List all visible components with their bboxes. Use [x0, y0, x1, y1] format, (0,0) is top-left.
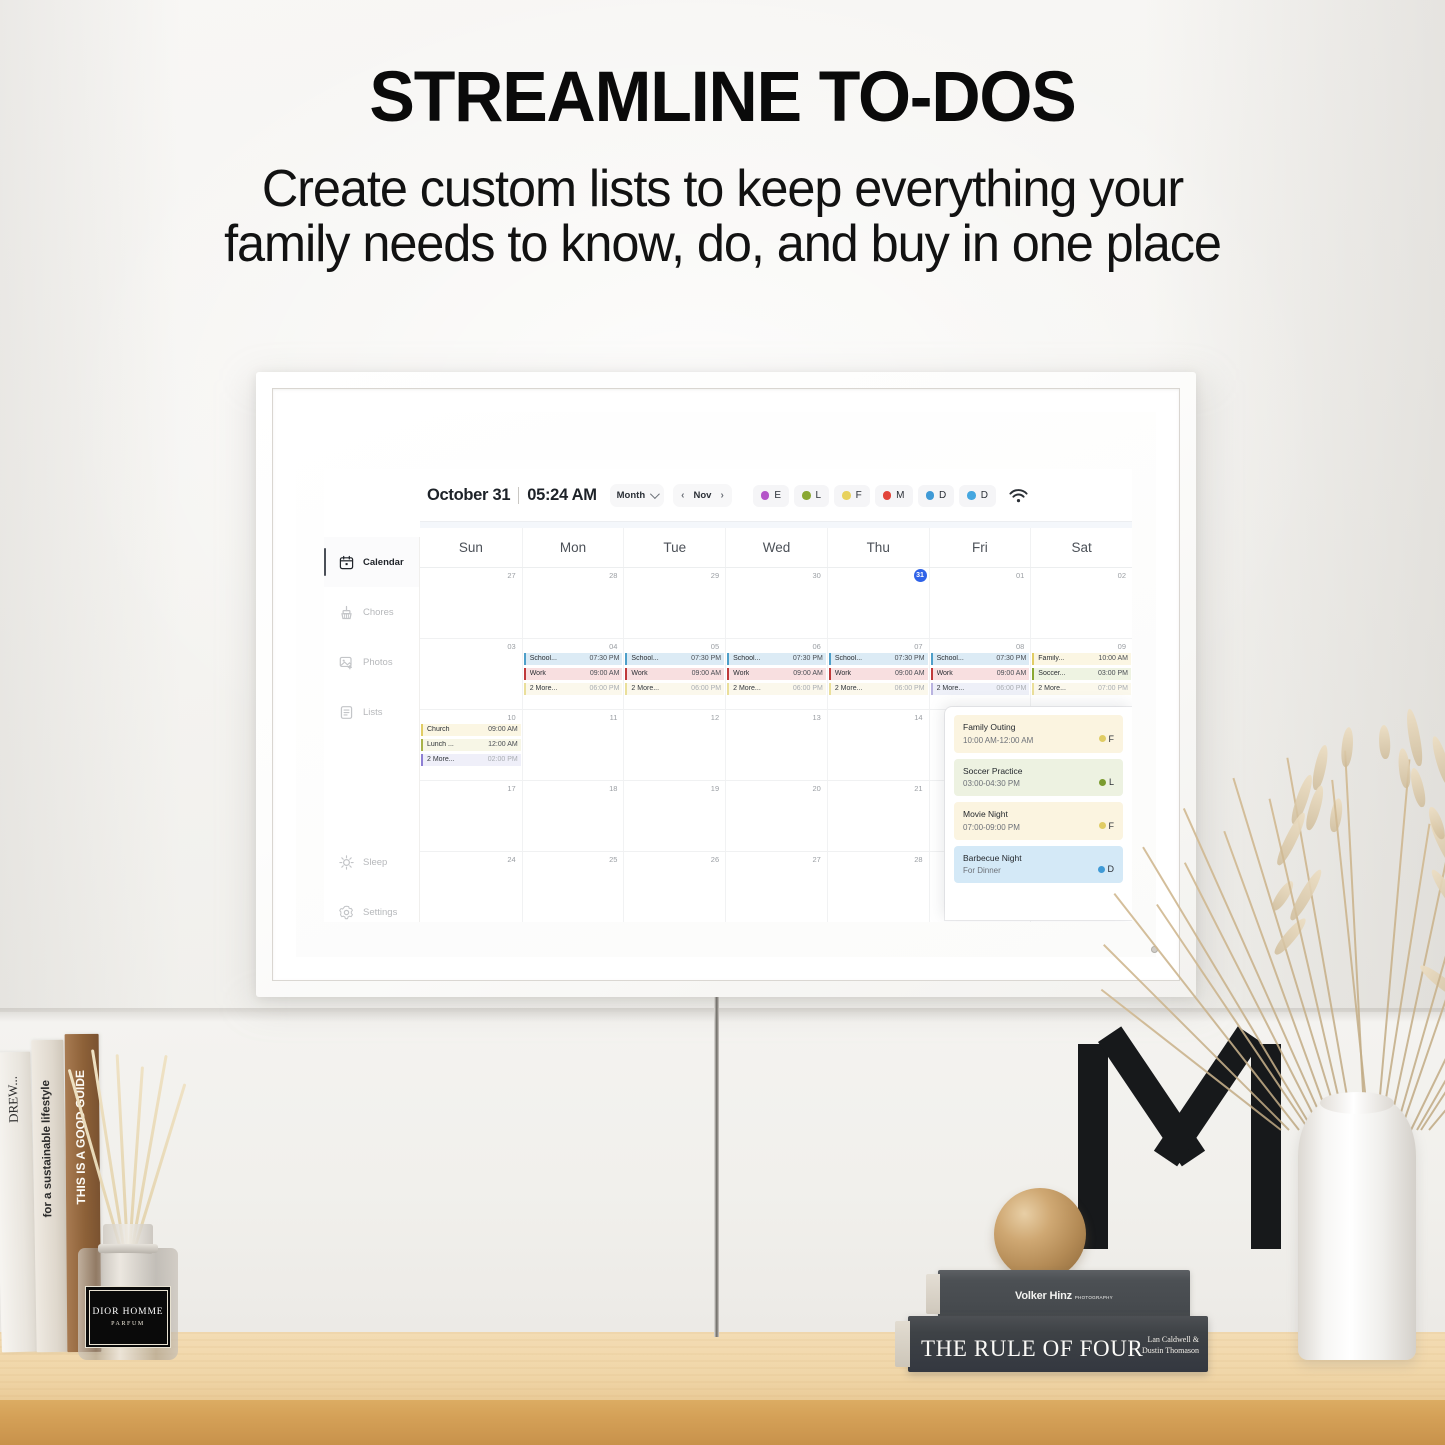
popup-event-text: Movie Night07:00-09:00 PM: [963, 809, 1020, 832]
book-right-top: Volker Hinz PHOTOGRAPHY: [938, 1270, 1190, 1318]
topbar-controls: October 31 05:24 AM Month ‹ Nov › ELFMDD: [420, 469, 1132, 522]
popup-event-title: Barbecue Night: [963, 853, 1022, 863]
event-title: School...: [733, 655, 760, 662]
popup-event-time: 07:00-09:00 PM: [963, 823, 1020, 832]
calendar-event[interactable]: Work09:00 AM: [931, 668, 1030, 680]
popup-event-time: 10:00 AM-12:00 AM: [963, 736, 1033, 745]
legend-label: E: [774, 490, 781, 501]
popup-event-category: F: [1099, 734, 1115, 745]
calendar-week-row: 0304School...07:30 PMWork09:00 AM2 More.…: [420, 639, 1132, 710]
day-number: 21: [914, 784, 922, 793]
legend-chip-e-0[interactable]: E: [753, 485, 789, 507]
event-title: School...: [631, 655, 658, 662]
view-selector-label: Month: [617, 490, 646, 501]
sidebar-item-settings[interactable]: Settings: [324, 887, 419, 922]
legend-chip-d-5[interactable]: D: [959, 485, 996, 507]
more-events-link[interactable]: 2 More...06:00 PM: [524, 683, 623, 695]
popup-event-category: D: [1098, 864, 1115, 875]
popup-event-category: F: [1099, 821, 1115, 832]
diffuser-brand: DIOR HOMME: [92, 1307, 163, 1317]
popup-event-item[interactable]: Family Outing10:00 AM-12:00 AMF: [954, 715, 1123, 753]
event-time: 07:30 PM: [691, 655, 721, 662]
calendar-day-cell[interactable]: 12: [623, 710, 725, 780]
promo-subheadline-line-2: family needs to know, do, and buy in one…: [22, 217, 1424, 272]
calendar-event[interactable]: Lunch ...12:00 AM: [421, 739, 521, 751]
popup-event-text: Barbecue NightFor Dinner: [963, 853, 1022, 876]
day-event-list: Family...10:00 AMSoccer...03:00 PM2 More…: [1032, 653, 1131, 698]
wall-shadow-left: [0, 0, 180, 1030]
calendar-day-cell[interactable]: 28: [827, 852, 929, 922]
calendar-day-cell[interactable]: 30: [725, 568, 827, 638]
day-number: 05: [711, 642, 719, 651]
month-navigator[interactable]: ‹ Nov ›: [673, 484, 732, 507]
day-number: 29: [711, 571, 719, 580]
wifi-icon[interactable]: [1009, 489, 1028, 503]
category-color-dot: [1098, 866, 1105, 873]
pampas-plume: [1409, 767, 1429, 808]
popup-event-title: Movie Night: [963, 809, 1020, 819]
calendar-day-cell[interactable]: 25: [522, 852, 624, 922]
event-time: 07:30 PM: [793, 655, 823, 662]
event-title: Work: [937, 670, 953, 677]
day-number: 13: [813, 713, 821, 722]
day-header-thu: Thu: [827, 528, 929, 567]
category-color-dot: [1099, 822, 1106, 829]
event-title: 2 More...: [427, 756, 455, 763]
calendar-day-cell[interactable]: 10Church09:00 AMLunch ...12:00 AM2 More.…: [420, 710, 522, 780]
sidebar-item-label: Calendar: [363, 557, 404, 568]
photo-add-icon: [339, 655, 354, 670]
event-time: 03:00 PM: [1098, 670, 1128, 677]
calendar-day-cell[interactable]: 06School...07:30 PMWork09:00 AM2 More...…: [725, 639, 827, 709]
calendar-day-cell[interactable]: 14: [827, 710, 929, 780]
popup-event-title: Soccer Practice: [963, 766, 1023, 776]
calendar-day-cell[interactable]: 09Family...10:00 AMSoccer...03:00 PM2 Mo…: [1030, 639, 1132, 709]
nav-month-label: Nov: [691, 490, 713, 501]
wooden-shelf-edge: [0, 1400, 1445, 1445]
event-time: 12:00 AM: [488, 741, 518, 748]
calendar-day-cell[interactable]: 17: [420, 781, 522, 851]
calendar-event[interactable]: School...07:30 PM: [727, 653, 826, 665]
day-number: 01: [1016, 571, 1024, 580]
day-number: 11: [610, 713, 618, 722]
popup-event-text: Family Outing10:00 AM-12:00 AM: [963, 722, 1033, 745]
legend-label: F: [856, 490, 862, 501]
sidebar-item-label: Sleep: [363, 857, 387, 868]
chevron-down-icon: [650, 489, 660, 499]
book-right-top-author: Volker Hinz: [1015, 1290, 1072, 1302]
day-number: 19: [711, 784, 719, 793]
event-time: 06:00 PM: [793, 685, 823, 692]
legend-color-dot: [842, 491, 851, 500]
chevron-left-icon[interactable]: ‹: [679, 490, 686, 501]
book-right-bottom-authors: Lan Caldwell & Dustin Thomason: [1142, 1335, 1199, 1357]
gold-sphere-decor: [994, 1188, 1086, 1280]
popup-event-item[interactable]: Movie Night07:00-09:00 PMF: [954, 802, 1123, 840]
day-events-popup[interactable]: Family Outing10:00 AM-12:00 AMFSoccer Pr…: [945, 707, 1132, 920]
event-time: 07:30 PM: [895, 655, 925, 662]
event-title: 2 More...: [1038, 685, 1066, 692]
category-color-dot: [1099, 779, 1106, 786]
pampas-stem: [1380, 824, 1430, 1130]
calendar-event[interactable]: Soccer...03:00 PM: [1032, 668, 1131, 680]
popup-event-time: For Dinner: [963, 866, 1022, 875]
legend-color-dot: [761, 491, 770, 500]
day-header-fri: Fri: [929, 528, 1031, 567]
calendar-legend: ELFMDD: [753, 485, 996, 507]
sidebar-item-lists[interactable]: Lists: [324, 687, 419, 737]
day-number: 04: [609, 642, 617, 651]
calendar-day-cell[interactable]: 01: [929, 568, 1031, 638]
calendar-day-cell[interactable]: 26: [623, 852, 725, 922]
pampas-plume: [1340, 727, 1354, 768]
app-sidebar: CalendarChoresPhotosListsSleepSettings: [324, 537, 420, 922]
event-time: 07:00 PM: [1098, 685, 1128, 692]
calendar-icon: [339, 555, 354, 570]
day-number: 08: [1016, 642, 1024, 651]
day-header-mon: Mon: [522, 528, 624, 567]
event-title: 2 More...: [530, 685, 558, 692]
day-event-list: School...07:30 PMWork09:00 AM2 More...06…: [727, 653, 826, 698]
calendar-event[interactable]: School...07:30 PM: [524, 653, 623, 665]
event-time: 06:00 PM: [895, 685, 925, 692]
day-number: 30: [813, 571, 821, 580]
calendar-event[interactable]: Work09:00 AM: [829, 668, 928, 680]
popup-event-time: 03:00-04:30 PM: [963, 779, 1023, 788]
legend-color-dot: [967, 491, 976, 500]
legend-chip-d-4[interactable]: D: [918, 485, 955, 507]
day-number: 17: [507, 784, 515, 793]
calendar-day-cell[interactable]: 27: [420, 568, 522, 638]
white-ceramic-vase: [1298, 1098, 1416, 1360]
chevron-right-icon[interactable]: ›: [718, 490, 725, 501]
day-number: 27: [507, 571, 515, 580]
category-code: F: [1109, 734, 1115, 744]
day-number: 20: [813, 784, 821, 793]
event-time: 06:00 PM: [691, 685, 721, 692]
day-event-list: School...07:30 PMWork09:00 AM2 More...06…: [524, 653, 623, 698]
popup-event-text: Soccer Practice03:00-04:30 PM: [963, 766, 1023, 789]
calendar-day-cell[interactable]: 19: [623, 781, 725, 851]
event-title: School...: [530, 655, 557, 662]
diffuser-collar: [98, 1244, 158, 1253]
event-time: 09:00 AM: [590, 670, 620, 677]
broom-icon: [339, 605, 354, 620]
pampas-plume: [1378, 724, 1391, 759]
calendar-event[interactable]: Work09:00 AM: [727, 668, 826, 680]
legend-label: L: [816, 490, 822, 501]
book-right-top-subtitle: PHOTOGRAPHY: [1075, 1295, 1113, 1300]
today-date-badge: 31: [914, 569, 927, 582]
calendar-event[interactable]: School...07:30 PM: [625, 653, 724, 665]
book-pages: [895, 1321, 910, 1367]
dried-pampas-grass: [1180, 730, 1445, 1130]
book-left-2-title: for a sustainable lifestyle: [40, 1080, 54, 1218]
day-header-wed: Wed: [725, 528, 827, 567]
calendar-day-cell[interactable]: 03: [420, 639, 522, 709]
event-title: Church: [427, 726, 450, 733]
calendar-day-cell[interactable]: 04School...07:30 PMWork09:00 AM2 More...…: [522, 639, 624, 709]
more-events-link[interactable]: 2 More...06:00 PM: [931, 683, 1030, 695]
calendar-day-cell[interactable]: 08School...07:30 PMWork09:00 AM2 More...…: [929, 639, 1031, 709]
sidebar-item-sleep[interactable]: Sleep: [324, 837, 419, 887]
vase-rim: [1320, 1092, 1394, 1114]
calendar-day-cell[interactable]: 05School...07:30 PMWork09:00 AM2 More...…: [623, 639, 725, 709]
book-right-top-title: Volker Hinz PHOTOGRAPHY: [938, 1290, 1190, 1302]
popup-event-item[interactable]: Soccer Practice03:00-04:30 PML: [954, 759, 1123, 797]
calendar-day-cell[interactable]: 28: [522, 568, 624, 638]
label-border: [89, 1290, 168, 1345]
calendar-event[interactable]: Church09:00 AM: [421, 724, 521, 736]
legend-color-dot: [926, 491, 935, 500]
day-header-tue: Tue: [623, 528, 725, 567]
more-events-link[interactable]: 2 More...06:00 PM: [625, 683, 724, 695]
promo-subheadline-line-1: Create custom lists to keep everything y…: [22, 162, 1424, 217]
day-number: 18: [609, 784, 617, 793]
calendar-day-cell[interactable]: 21: [827, 781, 929, 851]
day-number: 12: [711, 713, 719, 722]
current-time: 05:24 AM: [527, 486, 596, 505]
calendar-day-cell[interactable]: 20: [725, 781, 827, 851]
book-left-2: for a sustainable lifestyle: [31, 1040, 68, 1353]
calendar-day-cell[interactable]: 27: [725, 852, 827, 922]
date-time-display: October 31 05:24 AM: [427, 486, 597, 505]
diffuser-label: DIOR HOMME PARFUM: [85, 1286, 171, 1348]
legend-color-dot: [802, 491, 811, 500]
sidebar-item-label: Photos: [363, 657, 393, 668]
event-title: School...: [937, 655, 964, 662]
legend-chip-m-3[interactable]: M: [875, 485, 913, 507]
event-time: 06:00 PM: [996, 685, 1026, 692]
author-line-1: Lan Caldwell &: [1142, 1335, 1199, 1346]
event-title: 2 More...: [733, 685, 761, 692]
divider: [518, 487, 519, 504]
calendar-day-cell[interactable]: 07School...07:30 PMWork09:00 AM2 More...…: [827, 639, 929, 709]
day-event-list: School...07:30 PMWork09:00 AM2 More...06…: [931, 653, 1030, 698]
popup-event-item[interactable]: Barbecue NightFor DinnerD: [954, 846, 1123, 884]
event-title: School...: [835, 655, 862, 662]
legend-label: D: [939, 490, 946, 501]
more-events-link[interactable]: 2 More...02:00 PM: [421, 754, 521, 766]
calendar-event[interactable]: Family...10:00 AM: [1032, 653, 1131, 665]
day-header-sat: Sat: [1030, 528, 1132, 567]
sidebar-item-label: Settings: [363, 907, 397, 918]
event-title: Lunch ...: [427, 741, 454, 748]
current-date: October 31: [427, 486, 510, 505]
sidebar-item-photos[interactable]: Photos: [324, 637, 419, 687]
legend-color-dot: [883, 491, 892, 500]
day-of-week-header: SunMonTueWedThuFriSat: [420, 528, 1132, 568]
event-title: Family...: [1038, 655, 1064, 662]
day-number: 25: [609, 855, 617, 864]
pampas-plume: [1310, 744, 1330, 791]
sidebar-item-chores[interactable]: Chores: [324, 587, 419, 637]
day-event-list: School...07:30 PMWork09:00 AM2 More...06…: [625, 653, 724, 698]
day-number: 14: [914, 713, 922, 722]
calendar-day-cell[interactable]: 11: [522, 710, 624, 780]
day-number: 02: [1118, 571, 1126, 580]
event-time: 09:00 AM: [692, 670, 722, 677]
day-number: 27: [813, 855, 821, 864]
day-number: 03: [507, 642, 515, 651]
day-header-sun: Sun: [420, 528, 522, 567]
day-number: 10: [507, 713, 515, 722]
calendar-day-cell[interactable]: 02: [1030, 568, 1132, 638]
sidebar-spacer: [324, 737, 419, 837]
calendar-day-cell[interactable]: 29: [623, 568, 725, 638]
event-title: 2 More...: [835, 685, 863, 692]
view-selector-dropdown[interactable]: Month: [610, 484, 665, 507]
event-time: 02:00 PM: [488, 756, 518, 763]
event-title: Work: [733, 670, 749, 677]
pampas-plume: [1397, 748, 1412, 789]
day-number: 09: [1118, 642, 1126, 651]
calendar-day-cell[interactable]: 31: [827, 568, 929, 638]
pampas-stem: [1331, 780, 1370, 1130]
calendar-day-cell[interactable]: 13: [725, 710, 827, 780]
event-title: 2 More...: [937, 685, 965, 692]
day-number: 26: [711, 855, 719, 864]
calendar-app-screen: 62.96°F October 31 05:24 AM Month ‹ Nov …: [324, 469, 1132, 922]
calendar-event[interactable]: Work09:00 AM: [524, 668, 623, 680]
calendar-event[interactable]: School...07:30 PM: [931, 653, 1030, 665]
sun-icon: [339, 855, 354, 870]
more-events-link[interactable]: 2 More...06:00 PM: [829, 683, 928, 695]
event-title: Work: [835, 670, 851, 677]
promo-subheadline: Create custom lists to keep everything y…: [22, 162, 1424, 272]
day-number: 24: [507, 855, 515, 864]
day-number: 06: [813, 642, 821, 651]
calendar-day-cell[interactable]: 18: [522, 781, 624, 851]
gear-icon: [339, 905, 354, 920]
day-number: 07: [914, 642, 922, 651]
event-title: Work: [631, 670, 647, 677]
book-right-bottom: THE RULE OF FOUR Lan Caldwell & Dustin T…: [908, 1316, 1208, 1372]
more-events-link[interactable]: 2 More...06:00 PM: [727, 683, 826, 695]
event-time: 09:00 AM: [997, 670, 1027, 677]
category-code: F: [1109, 821, 1115, 831]
pampas-plume: [1429, 735, 1445, 788]
popup-event-category: L: [1099, 777, 1114, 788]
sidebar-item-label: Chores: [363, 607, 394, 618]
event-title: 2 More...: [631, 685, 659, 692]
day-number: 28: [914, 855, 922, 864]
category-code: D: [1108, 864, 1115, 874]
legend-label: D: [981, 490, 988, 501]
pampas-stem: [1269, 798, 1347, 1130]
legend-chip-f-2[interactable]: F: [834, 485, 870, 507]
app-topbar: October 31 05:24 AM Month ‹ Nov › ELFMDD: [324, 469, 1132, 522]
calendar-event[interactable]: School...07:30 PM: [829, 653, 928, 665]
event-time: 09:00 AM: [895, 670, 925, 677]
event-time: 09:00 AM: [793, 670, 823, 677]
calendar-event[interactable]: Work09:00 AM: [625, 668, 724, 680]
reed-diffuser: DIOR HOMME PARFUM: [68, 1160, 188, 1360]
book-left-1-title: DREW...: [5, 1076, 22, 1123]
power-cable: [714, 997, 719, 1337]
event-time: 07:30 PM: [589, 655, 619, 662]
day-event-list: Church09:00 AMLunch ...12:00 AM2 More...…: [421, 724, 521, 769]
sidebar-item-calendar[interactable]: Calendar: [324, 537, 419, 587]
pampas-stem: [1376, 759, 1410, 1130]
legend-label: M: [896, 490, 904, 501]
event-time: 09:00 AM: [488, 726, 518, 733]
sidebar-item-label: Lists: [363, 707, 383, 718]
diffuser-subtitle: PARFUM: [111, 1321, 145, 1327]
event-time: 06:00 PM: [589, 685, 619, 692]
event-time: 07:30 PM: [996, 655, 1026, 662]
day-number: 28: [609, 571, 617, 580]
category-code: L: [1109, 777, 1114, 787]
book-right-bottom-title: THE RULE OF FOUR: [921, 1336, 1143, 1362]
category-color-dot: [1099, 735, 1106, 742]
popup-event-title: Family Outing: [963, 722, 1033, 732]
calendar-week-row: 27282930310102: [420, 568, 1132, 639]
calendar-day-cell[interactable]: 24: [420, 852, 522, 922]
event-time: 10:00 AM: [1098, 655, 1128, 662]
promo-headline: STREAMLINE TO-DOS: [29, 62, 1416, 133]
legend-chip-l-1[interactable]: L: [794, 485, 829, 507]
event-title: Soccer...: [1038, 670, 1065, 677]
event-title: Work: [530, 670, 546, 677]
more-events-link[interactable]: 2 More...07:00 PM: [1032, 683, 1131, 695]
day-event-list: School...07:30 PMWork09:00 AM2 More...06…: [829, 653, 928, 698]
list-icon: [339, 705, 354, 720]
author-line-2: Dustin Thomason: [1142, 1346, 1199, 1357]
